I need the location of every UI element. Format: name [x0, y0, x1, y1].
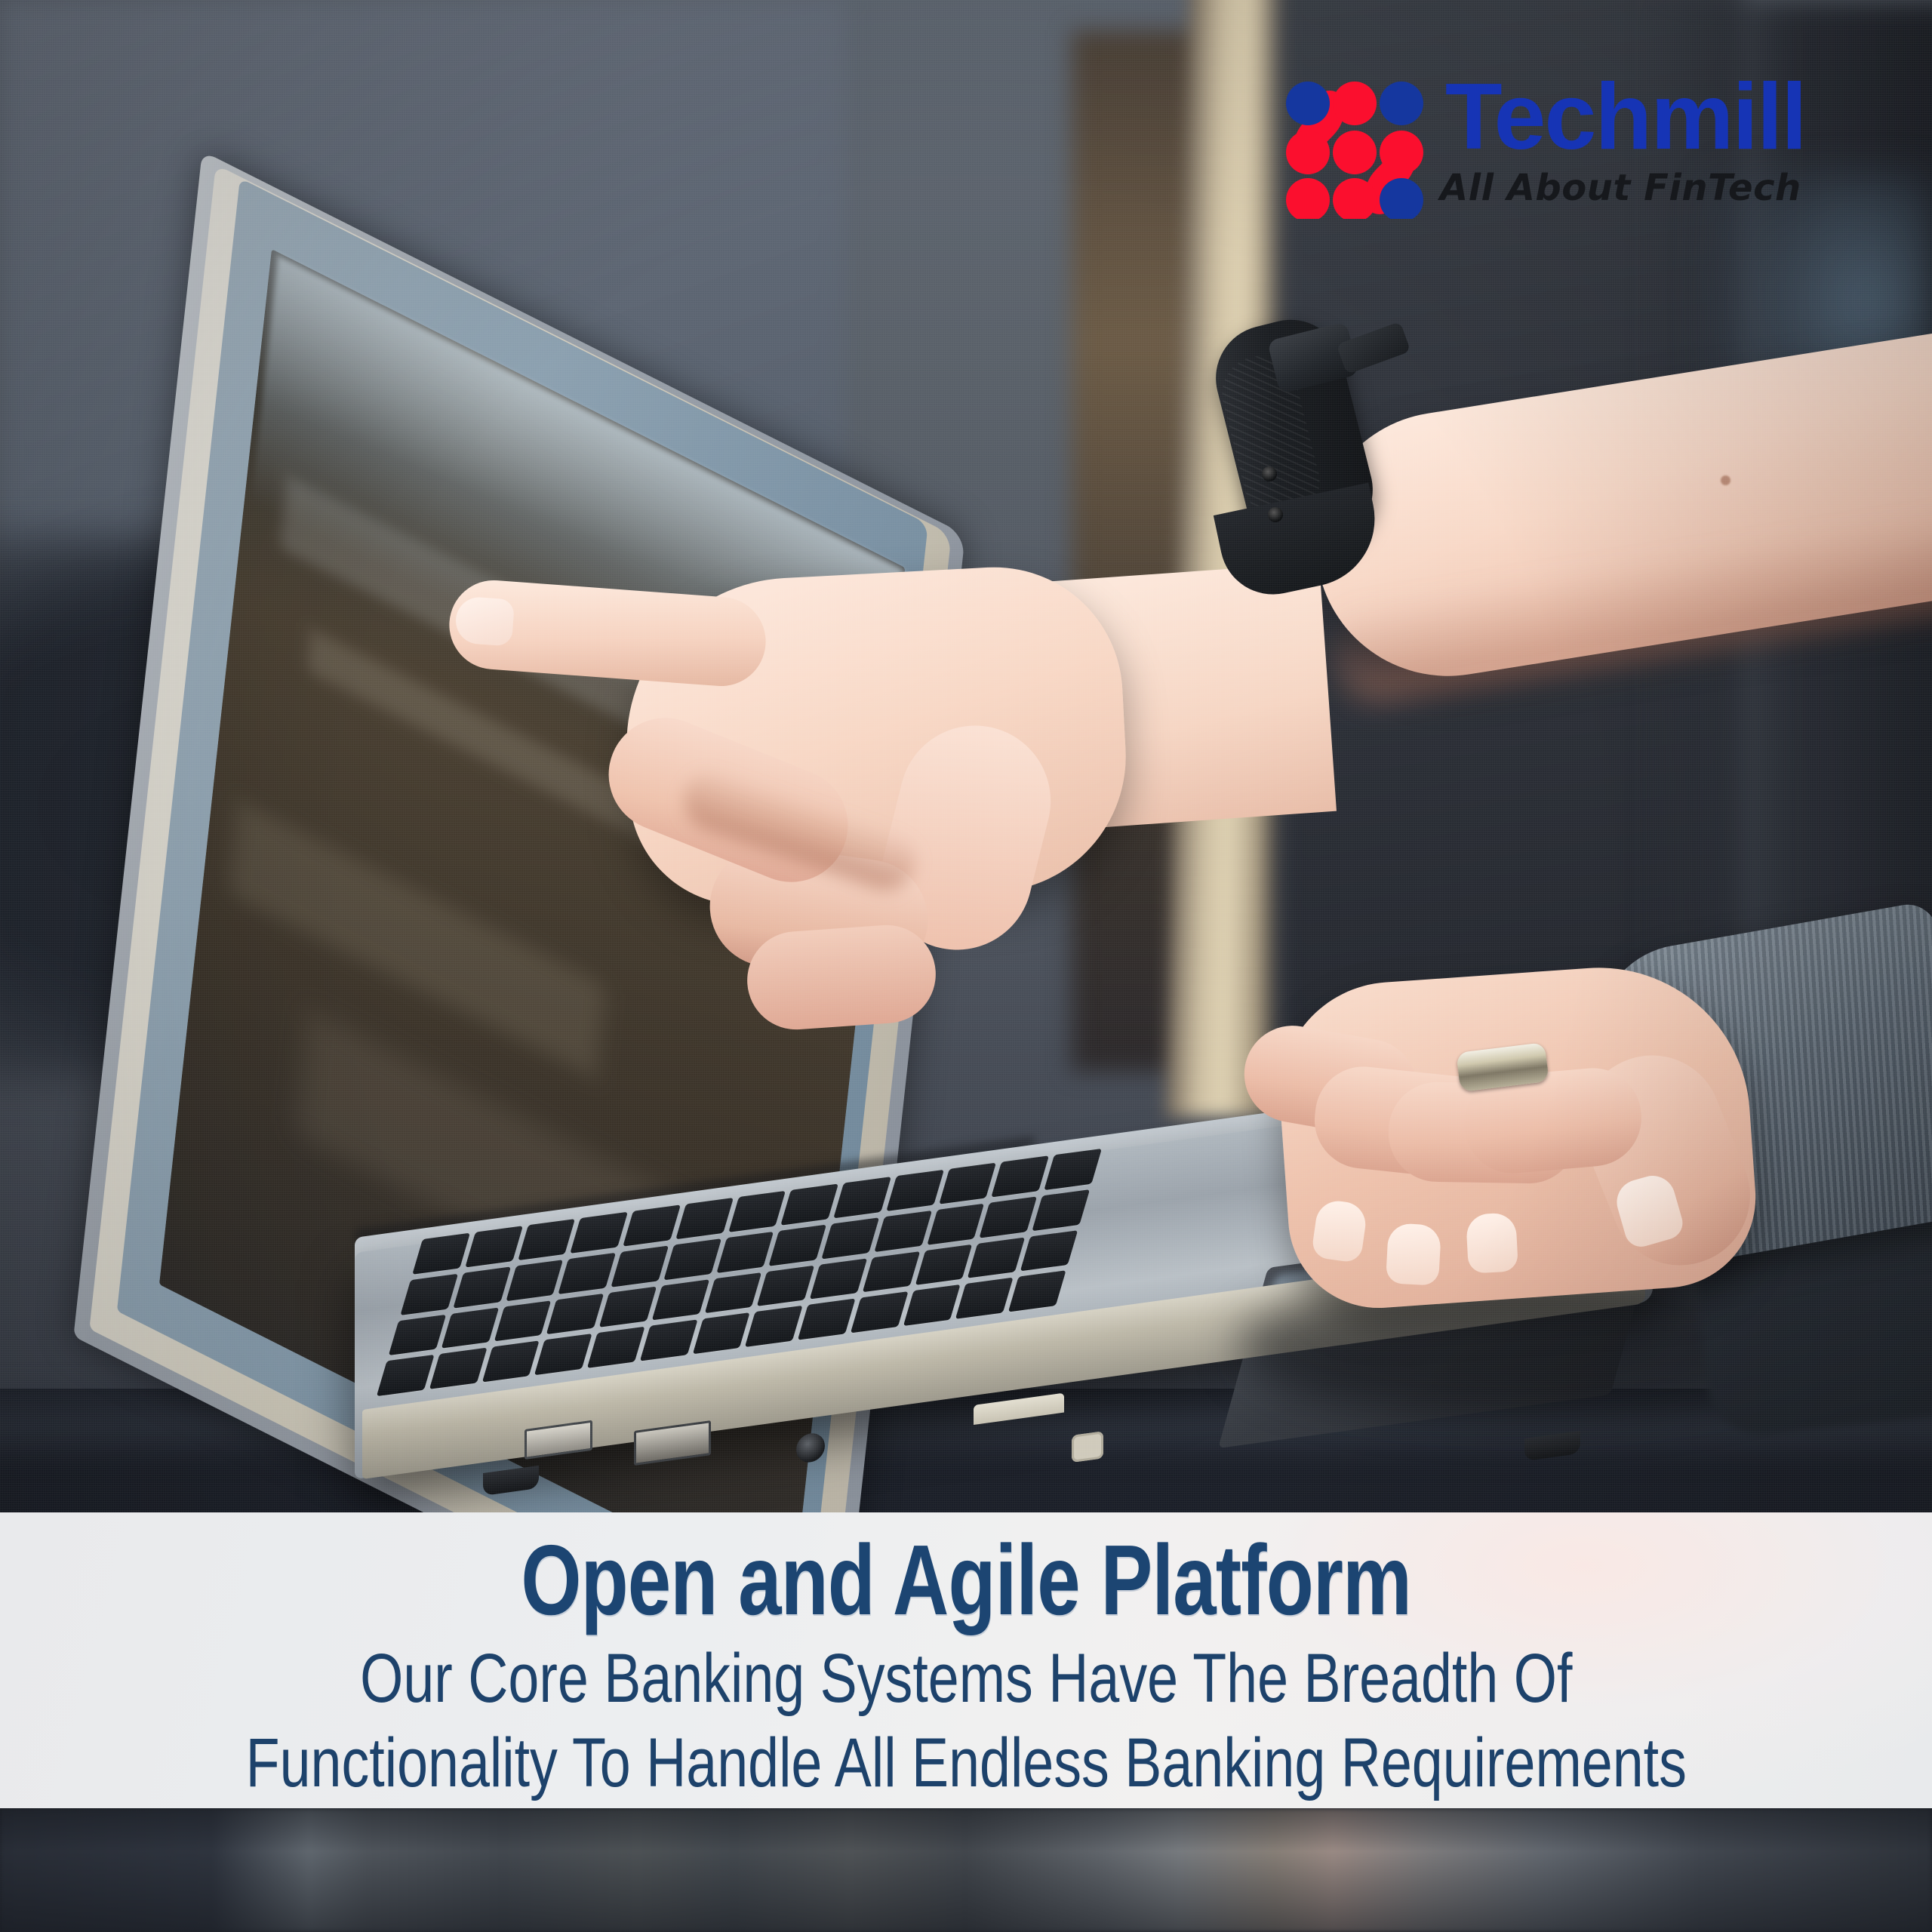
keyboard-key[interactable] [704, 1272, 761, 1313]
keyboard-key[interactable] [874, 1211, 931, 1252]
banner-subtitle-line-2: Functionality To Handle All Endless Bank… [245, 1721, 1686, 1805]
brand-wordmark-block: Techmill All About FinTech [1440, 72, 1806, 209]
keyboard-key[interactable] [546, 1293, 604, 1334]
fingernail [1386, 1223, 1441, 1286]
keyboard-key[interactable] [623, 1204, 680, 1246]
keyboard-key[interactable] [886, 1170, 943, 1211]
keyboard-key[interactable] [675, 1198, 733, 1239]
keyboard-key[interactable] [980, 1196, 1037, 1238]
keyboard-key[interactable] [939, 1163, 996, 1204]
keyboard-key[interactable] [599, 1286, 657, 1327]
keyboard-key[interactable] [611, 1245, 669, 1287]
banner-subtitle: Our Core Banking Systems Have The Breadt… [245, 1636, 1686, 1805]
keyboard-key[interactable] [571, 1212, 628, 1254]
bottom-strip-shading [0, 1808, 1932, 1932]
screen-reflection [229, 800, 606, 1078]
keyboard-key[interactable] [506, 1260, 563, 1301]
keyboard-key[interactable] [465, 1226, 522, 1267]
keyboard-key[interactable] [968, 1237, 1025, 1278]
keyboard-key[interactable] [558, 1253, 616, 1294]
banner-title: Open and Agile Platform [521, 1527, 1411, 1633]
pointing-hand-curled-finger [744, 921, 939, 1032]
fingernail [1466, 1212, 1518, 1273]
keyboard-key[interactable] [716, 1232, 774, 1273]
laptop-foot [1524, 1431, 1580, 1461]
keyboard-key[interactable] [663, 1238, 721, 1280]
keyboard-key[interactable] [769, 1224, 826, 1266]
keyboard-key[interactable] [652, 1279, 709, 1321]
keyboard-key[interactable] [781, 1183, 838, 1225]
brand-tagline: All About FinTech [1440, 167, 1801, 209]
keyboard-key[interactable] [518, 1219, 575, 1260]
laptop-lid-notch [974, 1393, 1064, 1425]
keyboard-key[interactable] [927, 1203, 984, 1244]
tracker-band-hole [1262, 466, 1277, 481]
keyboard-key[interactable] [833, 1177, 891, 1218]
techmill-dot-grid-icon [1283, 72, 1426, 219]
keyboard-key[interactable] [822, 1217, 879, 1259]
poster-canvas: Techmill All About FinTech Open and Agil… [0, 0, 1932, 1932]
keyboard-key[interactable] [494, 1300, 551, 1342]
keyboard-key[interactable] [453, 1266, 510, 1308]
keyboard-key[interactable] [728, 1191, 786, 1232]
brand-name: Techmill [1445, 72, 1806, 164]
brand-logo[interactable]: Techmill All About FinTech [1283, 72, 1806, 219]
skin-mark [1721, 475, 1730, 485]
keyboard-key[interactable] [757, 1265, 814, 1306]
banner-subtitle-line-1: Our Core Banking Systems Have The Breadt… [360, 1640, 1572, 1717]
keyboard-key[interactable] [863, 1251, 920, 1293]
keyboard-key[interactable] [915, 1244, 972, 1285]
tracker-band-hole [1268, 507, 1283, 522]
keyboard-key[interactable] [810, 1258, 867, 1300]
keyboard-key[interactable] [441, 1307, 498, 1349]
keyboard-key[interactable] [992, 1155, 1049, 1197]
caption-banner: Open and Agile Platform Our Core Banking… [0, 1512, 1932, 1808]
lid-latch-slot [1072, 1431, 1103, 1463]
